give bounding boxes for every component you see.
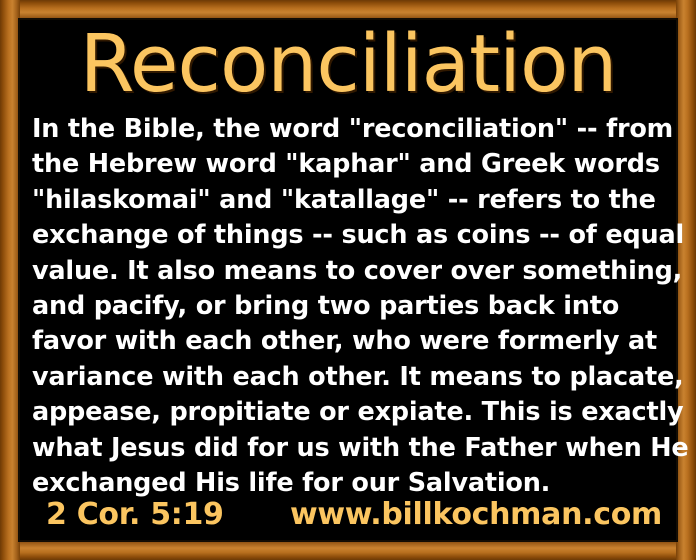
body-line: favor with each other, who were formerly… (32, 324, 670, 359)
body-line: exchange of things -- such as coins -- o… (32, 218, 670, 253)
body-line: the Hebrew word "kaphar" and Greek words (32, 147, 670, 182)
frame-border-bottom (0, 540, 696, 560)
body-line: and pacify, or bring two parties back in… (32, 289, 670, 324)
body-line: appease, propitiate or expiate. This is … (32, 395, 670, 430)
body-line: In the Bible, the word "reconciliation" … (32, 112, 670, 147)
footer-row: 2 Cor. 5:19 www.billkochman.com (32, 496, 666, 534)
body-line: variance with each other. It means to pl… (32, 360, 670, 395)
frame-border-left (0, 0, 20, 560)
website-url[interactable]: www.billkochman.com (290, 496, 666, 534)
body-line: "hilaskomai" and "katallage" -- refers t… (32, 183, 670, 218)
scripture-reference: 2 Cor. 5:19 (32, 496, 224, 534)
body-line: value. It also means to cover over somet… (32, 254, 670, 289)
poster-content-area: Reconciliation In the Bible, the word "r… (20, 20, 676, 540)
page-title: Reconciliation (20, 16, 676, 112)
scripture-poster: Reconciliation In the Bible, the word "r… (0, 0, 696, 560)
body-line: what Jesus did for us with the Father wh… (32, 431, 670, 466)
body-paragraph: In the Bible, the word "reconciliation" … (32, 112, 670, 501)
